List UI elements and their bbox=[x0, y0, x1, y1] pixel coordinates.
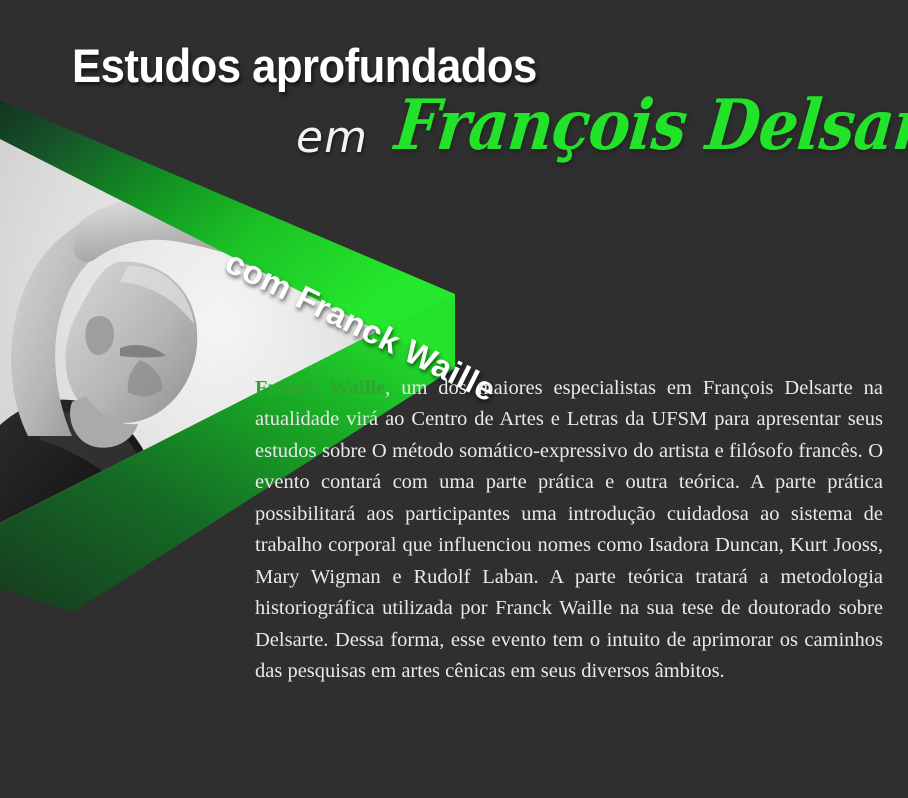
headline-connector: em bbox=[296, 116, 368, 160]
page-title: Estudos aprofundados bbox=[72, 42, 537, 89]
description-paragraph: Franck Waille, um dos maiores especialis… bbox=[255, 373, 883, 688]
lead-name: Franck Waille bbox=[255, 377, 385, 399]
description-text: , um dos maiores especialistas em Franço… bbox=[255, 377, 883, 683]
event-poster: Estudos aprofundados em François Delsart… bbox=[0, 0, 908, 798]
headline-subject: François Delsarte bbox=[392, 91, 908, 160]
